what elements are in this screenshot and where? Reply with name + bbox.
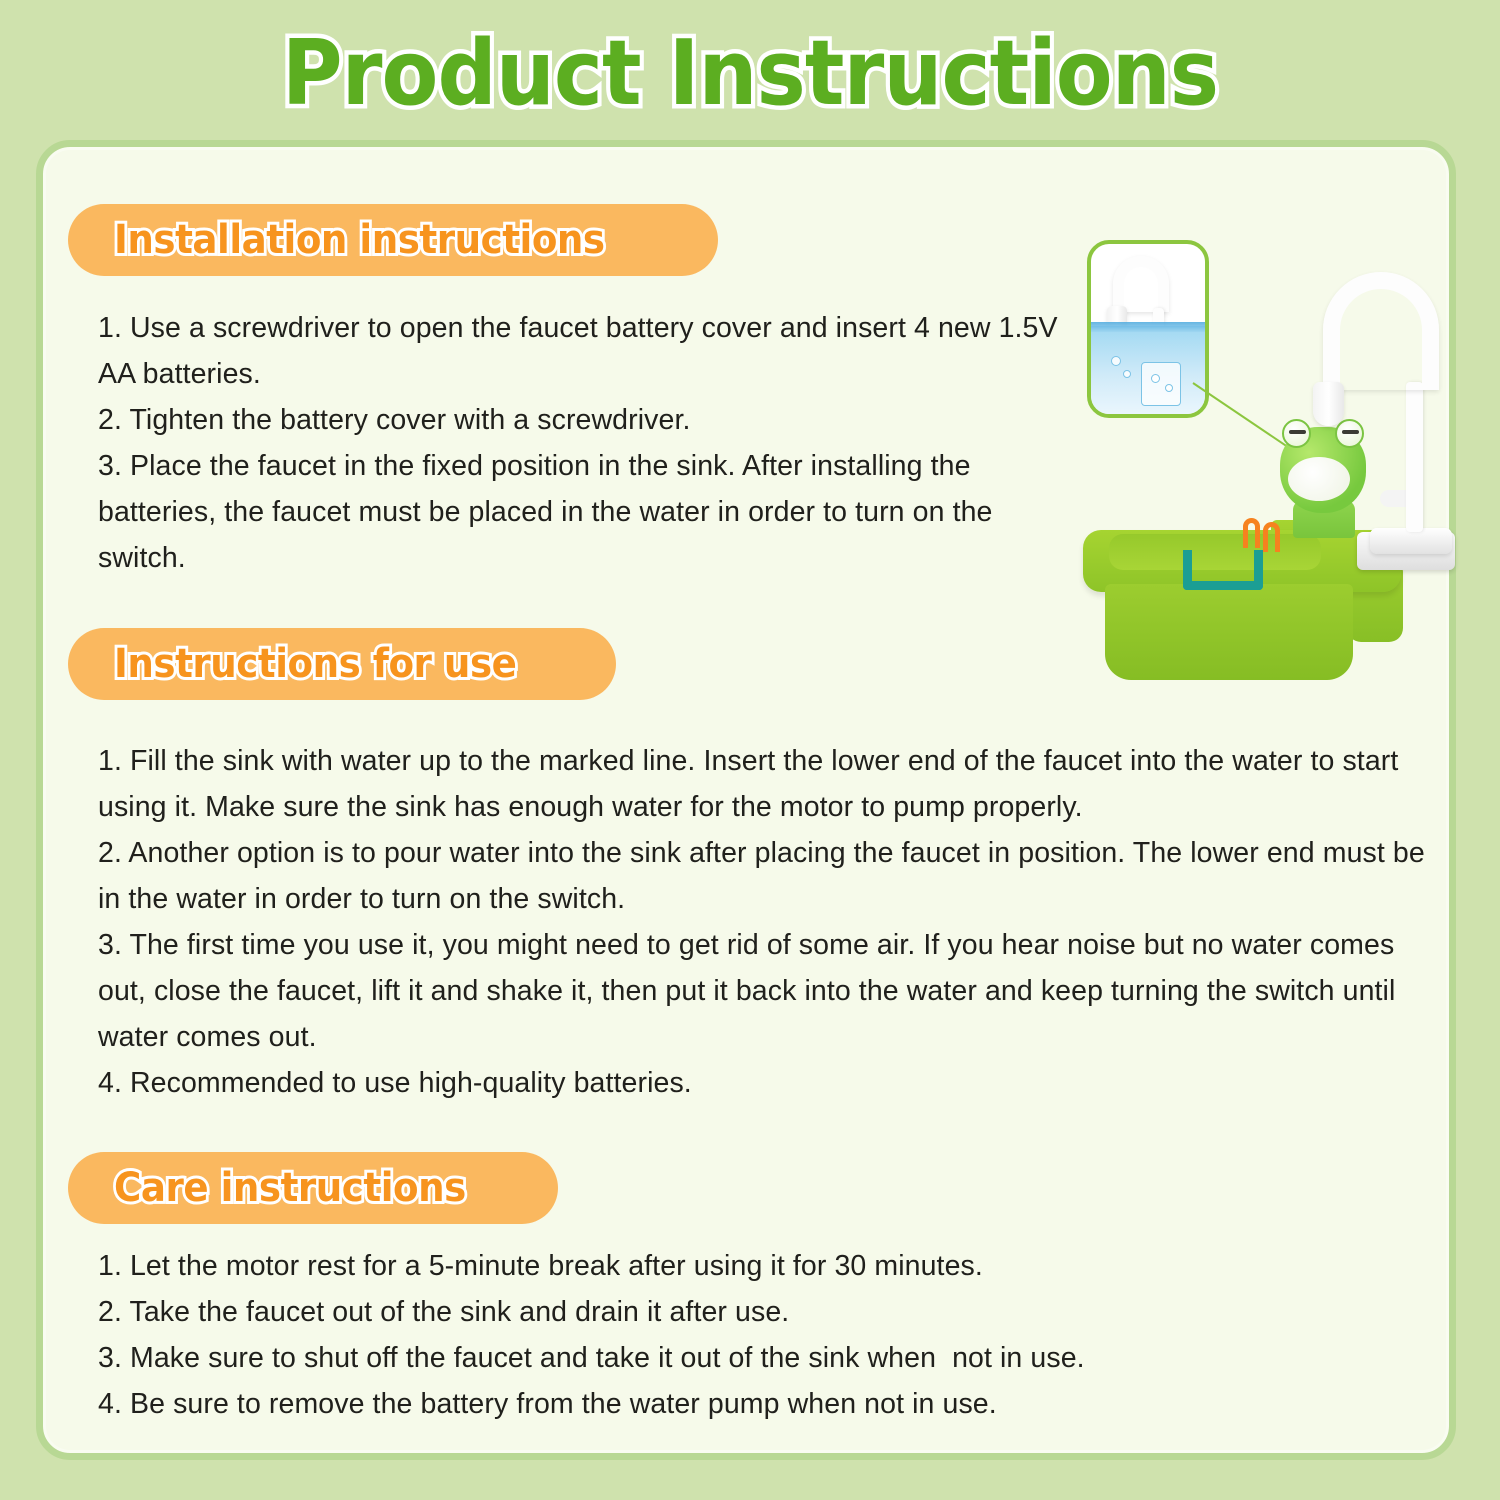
inset-water-surface-line xyxy=(1091,322,1205,332)
section-header-use: Instructions for use xyxy=(68,628,616,700)
installation-instructions-text: 1. Use a screwdriver to open the faucet … xyxy=(98,305,1058,581)
orange-hook-icon xyxy=(1243,518,1260,548)
section-header-care: Care instructions xyxy=(68,1152,558,1224)
section-header-installation: Installation instructions xyxy=(68,204,718,276)
section-header-installation-label: Installation instructions xyxy=(114,217,605,263)
dish-rack-icon xyxy=(1183,550,1263,590)
inset-callout-faucet-in-water xyxy=(1087,240,1209,418)
care-instructions-text: 1. Let the motor rest for a 5-minute bre… xyxy=(98,1243,1398,1427)
inset-bubble-icon xyxy=(1123,370,1131,378)
inset-bubble-icon xyxy=(1111,356,1121,366)
product-image xyxy=(1075,232,1460,677)
faucet-neck xyxy=(1323,272,1439,390)
inset-bubble-icon xyxy=(1151,374,1160,383)
inset-pump-filter-icon xyxy=(1141,362,1181,406)
frog-eye-left-icon xyxy=(1282,419,1311,448)
section-header-use-label: Instructions for use xyxy=(114,641,516,687)
use-instructions-text: 1. Fill the sink with water up to the ma… xyxy=(98,738,1448,1106)
inset-faucet-neck-icon xyxy=(1113,256,1169,312)
faucet-spout xyxy=(1313,382,1344,426)
frog-head xyxy=(1280,427,1366,513)
frog-muzzle xyxy=(1288,457,1350,501)
frog-pupil-icon xyxy=(1289,430,1306,434)
frog-pupil-icon xyxy=(1342,430,1359,434)
frog-eye-right-icon xyxy=(1335,419,1364,448)
sink-body xyxy=(1105,584,1353,680)
orange-hook-icon xyxy=(1263,522,1280,552)
section-header-care-label: Care instructions xyxy=(114,1165,466,1211)
faucet-column xyxy=(1406,382,1423,532)
page-title: Product Instructions xyxy=(60,22,1440,126)
inset-bubble-icon xyxy=(1165,384,1173,392)
